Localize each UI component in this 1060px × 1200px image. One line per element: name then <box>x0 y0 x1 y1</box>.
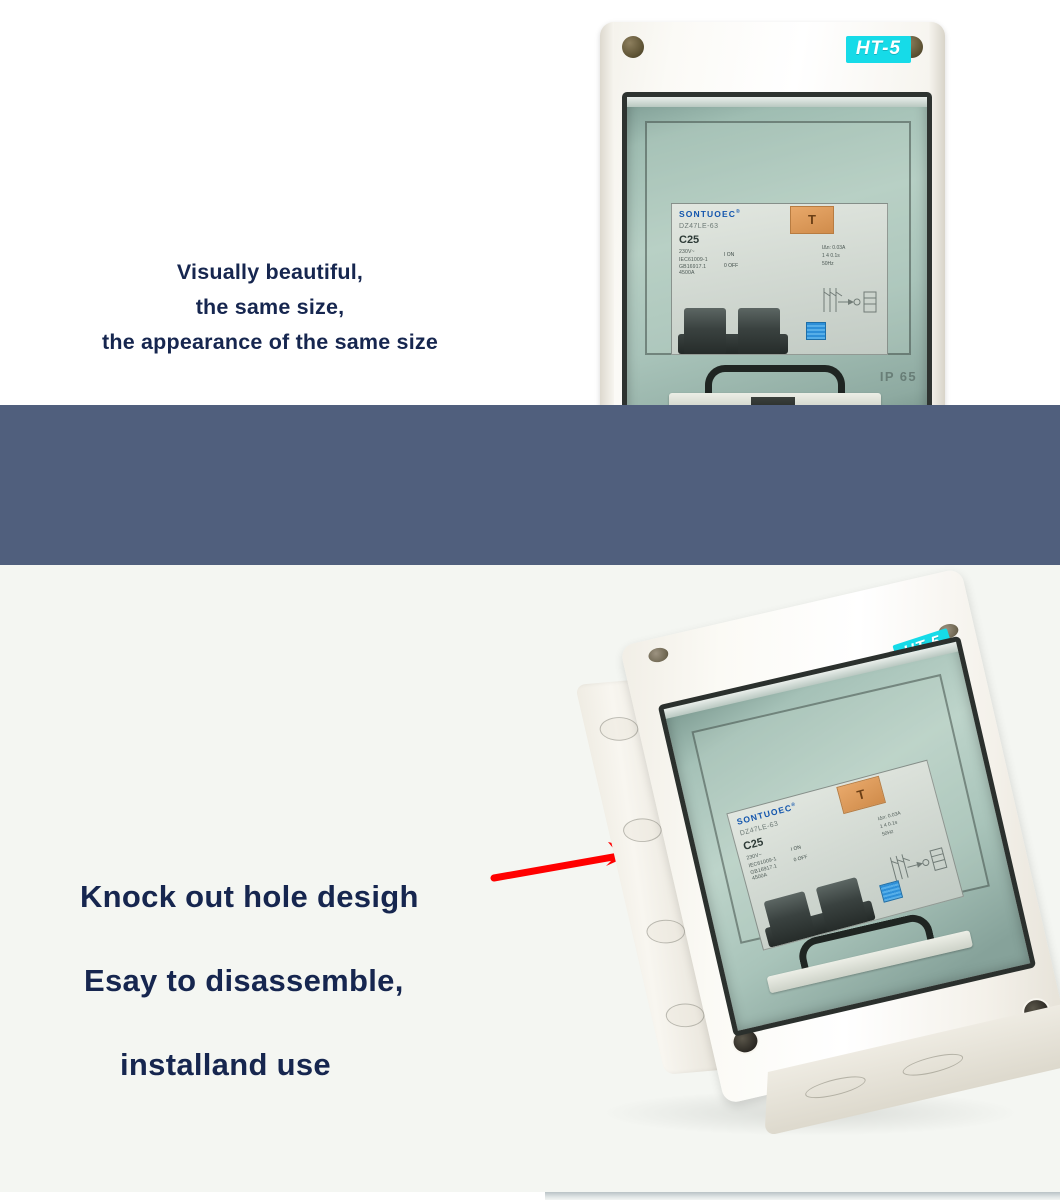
rcd-spec-text: IΔn: 0.03A 1 4 0.1s 50Hz <box>822 244 845 268</box>
breaker-standards-text: IEC61009-1 GB16917.1 4500A <box>679 257 708 277</box>
divider-band <box>0 405 1060 565</box>
top-caption-line-1: Visually beautiful, <box>40 255 500 290</box>
knockout-hole-3 <box>644 918 688 945</box>
screw-cap-top-left <box>622 36 644 58</box>
test-button-label-angled: T <box>837 777 884 813</box>
top-caption-line-2: the same size, <box>40 290 500 325</box>
blue-sticker-icon-angled <box>879 880 903 903</box>
product-infographic-page: Visually beautiful, the same size, the a… <box>0 0 1060 1200</box>
breaker-brand-text: SONTUOEC <box>679 209 736 219</box>
toggle-lever-2[interactable] <box>738 308 780 354</box>
breaker-off-label-angled: 0 OFF <box>793 852 810 866</box>
cover-top-rail <box>627 97 927 107</box>
breaker-on-label: I ON <box>724 250 738 261</box>
bottom-knockout-hole-1 <box>805 1072 866 1103</box>
ip-rating-text: IP 65 <box>880 369 917 384</box>
knockout-hole-2 <box>621 817 665 844</box>
enclosure-3d-group: HT-5 SONTUOEC® DZ47LE-63 C25 230V~ IEC61… <box>556 534 1060 1162</box>
circuit-breaker-module: SONTUOEC® DZ47LE-63 C25 230V~ IEC61009-1… <box>671 203 888 355</box>
breaker-rating-text-angled: C25 <box>742 836 765 853</box>
bottom-caption-line-3: installand use <box>58 1023 528 1107</box>
bottom-caption-block: Knock out hole desigh Esay to disassembl… <box>58 855 528 1107</box>
toggle-lever-1[interactable] <box>684 308 726 354</box>
top-caption-block: Visually beautiful, the same size, the a… <box>40 255 500 360</box>
breaker-off-label: 0 OFF <box>724 261 738 272</box>
screw-cap-top-left-angled <box>647 646 670 664</box>
breaker-brand-label: SONTUOEC® <box>679 209 741 219</box>
test-button-angled[interactable]: T <box>836 776 886 814</box>
breaker-on-off-labels-angled: I ON 0 OFF <box>790 841 809 866</box>
transparent-cover-window: SONTUOEC® DZ47LE-63 C25 230V~ IEC61009-1… <box>622 92 932 442</box>
model-badge-ht5: HT-5 <box>846 36 911 63</box>
knockout-hole-1 <box>597 716 641 743</box>
registered-mark-icon-angled: ® <box>791 801 797 808</box>
top-panel: Visually beautiful, the same size, the a… <box>0 0 1060 405</box>
page-bottom-edge-strip <box>545 1192 1060 1200</box>
bottom-caption-line-2: Esay to disassemble, <box>58 939 528 1023</box>
bottom-knockout-hole-2 <box>902 1049 963 1080</box>
knockout-hole-4 <box>663 1002 707 1029</box>
top-caption-line-3: the appearance of the same size <box>40 325 500 360</box>
rcd-spec-text-angled: IΔn: 0.03A 1 4 0.1s 50Hz <box>877 809 906 838</box>
test-button-label: T <box>791 207 833 233</box>
bottom-caption-line-1: Knock out hole desigh <box>58 855 528 939</box>
breaker-rating-text: C25 <box>679 234 699 246</box>
product-photo-angled-view: HT-5 SONTUOEC® DZ47LE-63 C25 230V~ IEC61… <box>612 575 1042 1120</box>
wiring-diagram-icon <box>820 282 880 318</box>
breaker-on-off-labels: I ON 0 OFF <box>724 250 738 272</box>
transparent-cover-window-angled: SONTUOEC® DZ47LE-63 C25 230V~ IEC61009-1… <box>658 636 1037 1037</box>
test-button[interactable]: T <box>790 206 834 234</box>
breaker-voltage-text: 230V~ <box>679 249 695 256</box>
registered-mark-icon: ® <box>736 209 741 215</box>
breaker-model-text: DZ47LE-63 <box>679 223 718 230</box>
blue-sticker-icon <box>806 322 826 340</box>
